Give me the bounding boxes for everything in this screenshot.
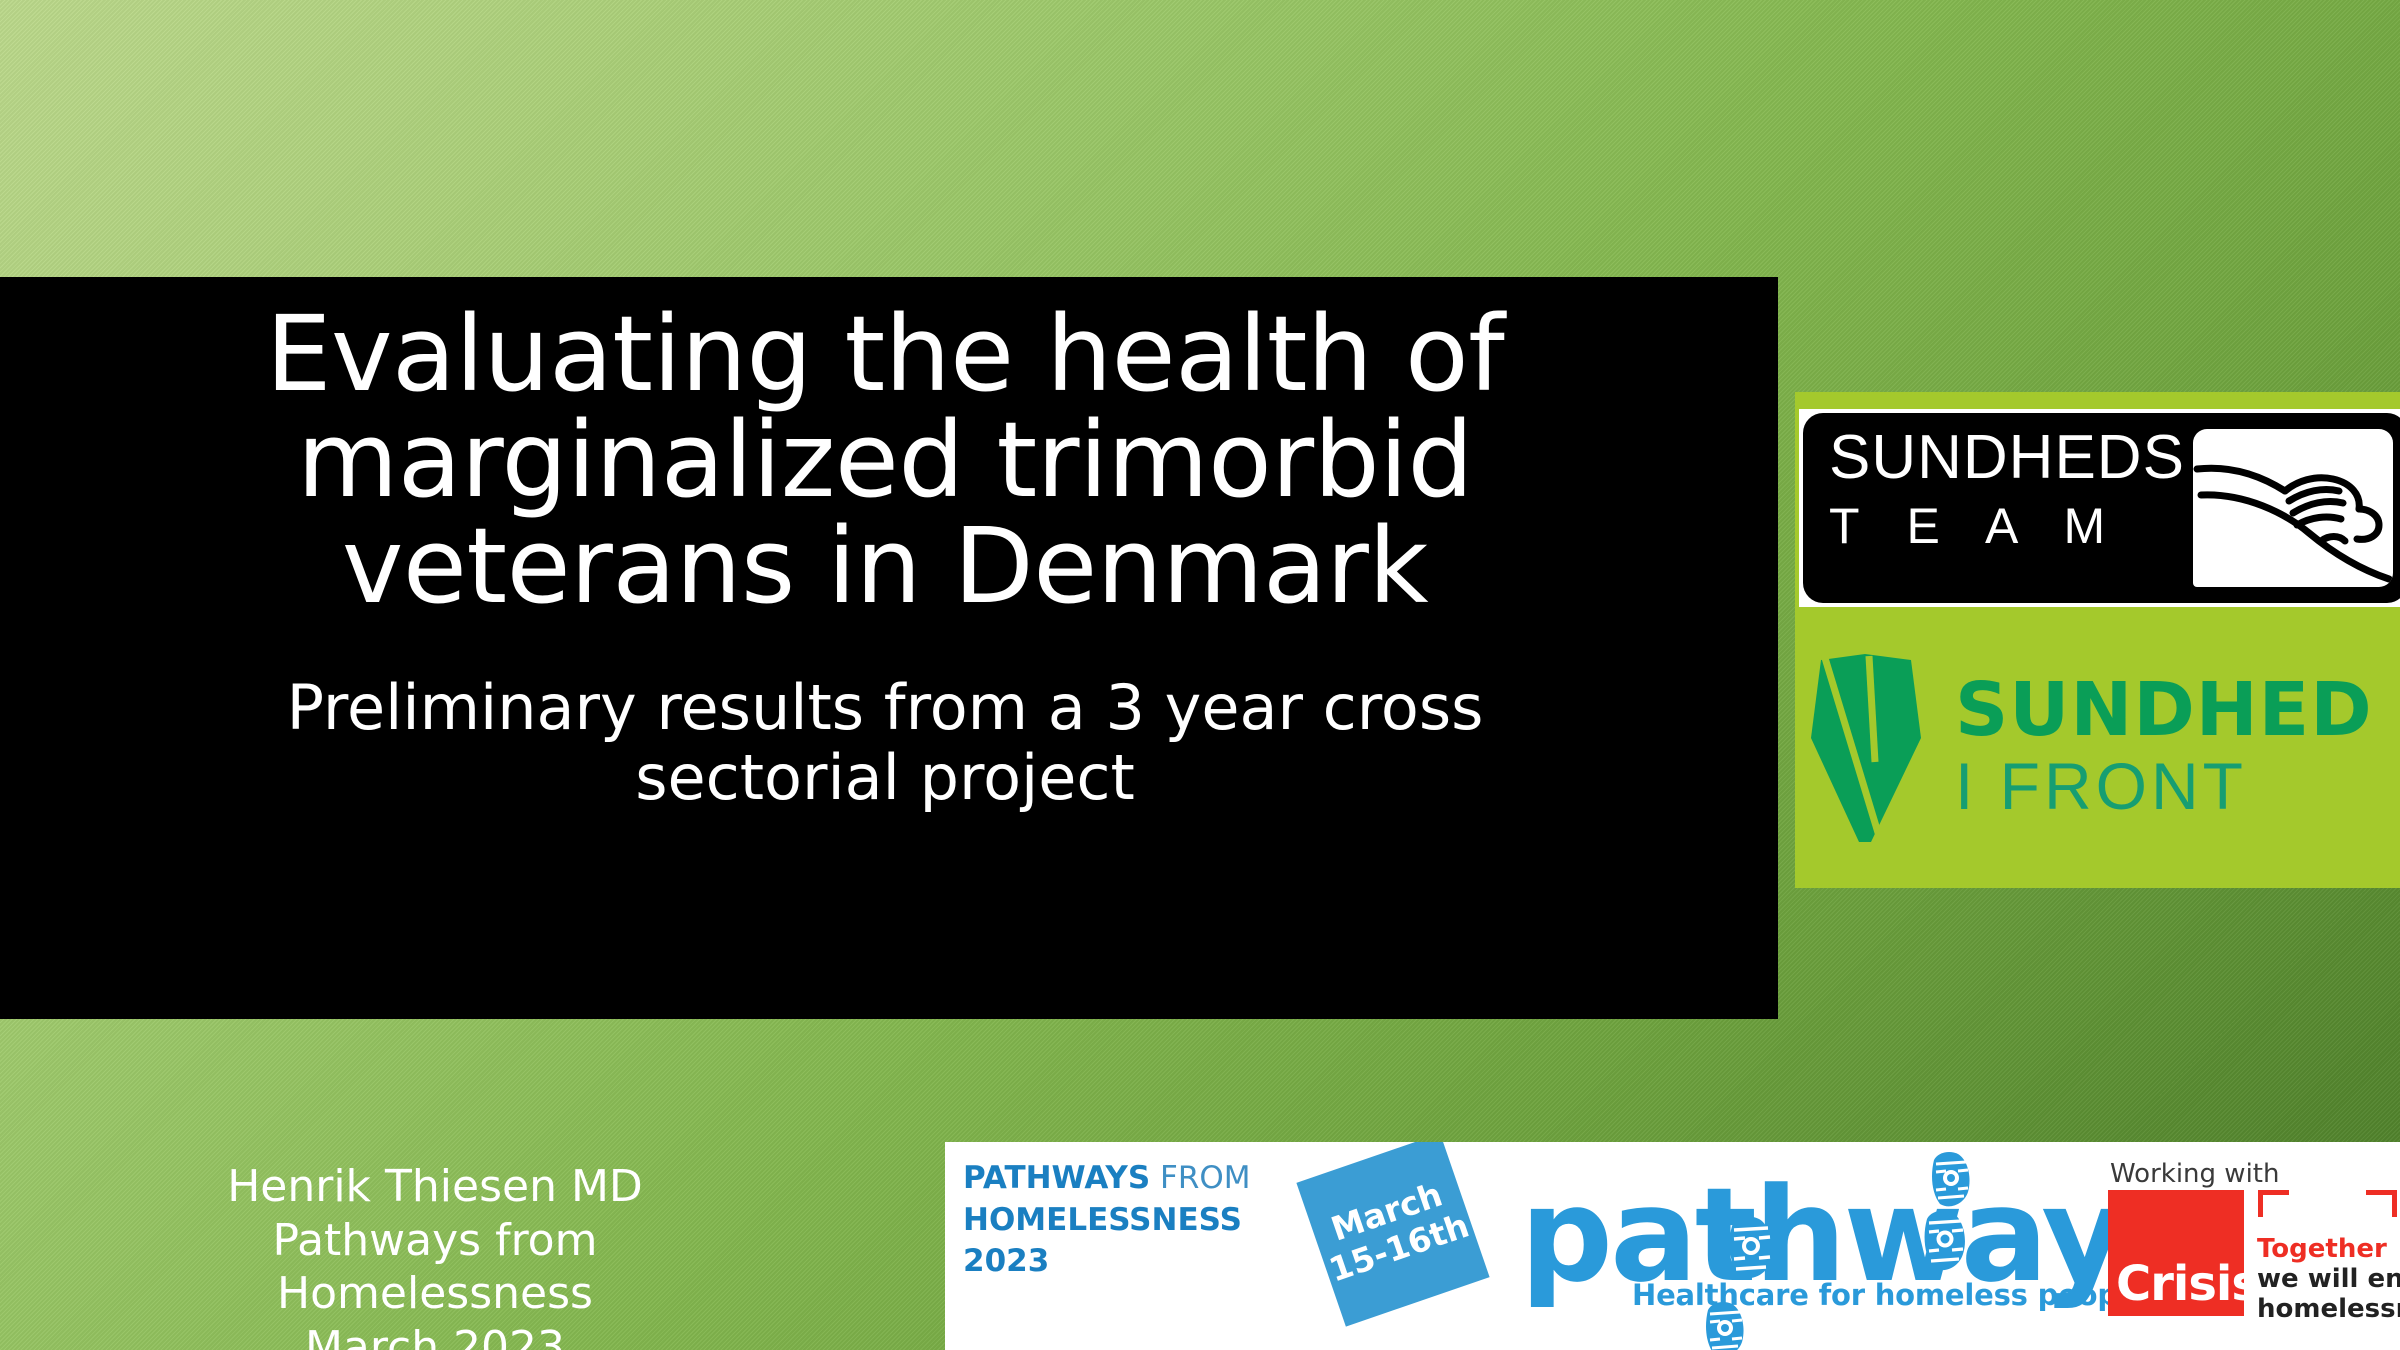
crisis-bracket-right-icon [2366,1190,2397,1217]
conference-title: PATHWAYS FROM HOMELESSNESS 2023 [963,1158,1251,1283]
conference-date-badge: March 15-16th [1296,1142,1489,1327]
conference-title-line1: PATHWAYS FROM [963,1158,1251,1200]
pathway-logo: pathway Healthcare for homeless people [1520,1152,2040,1342]
boot-footprint-icon [1725,1214,1777,1280]
shield-leaf-mark-icon [1805,650,1927,846]
sundheds-team-line2: T E A M [1829,501,2159,551]
conference-title-light: FROM [1150,1160,1250,1196]
boot-footprint-icon [1928,1150,1974,1208]
crisis-tagline-line3: homelessness [2257,1294,2400,1324]
boot-footprint-icon [1702,1300,1748,1350]
boot-footprint-icon [1920,1208,1970,1272]
clasping-hands-icon [2193,429,2393,587]
conference-title-line2: HOMELESSNESS [963,1200,1251,1242]
sundhed-i-front-line2: I FRONT [1955,752,2373,821]
page-title: Evaluating the health of marginalized tr… [105,301,1665,619]
sundhed-i-front-wordmark: SUNDHED I FRONT [1955,675,2373,821]
slide-subtitle: Preliminary results from a 3 year cross … [175,673,1595,812]
crisis-logo: Working with Crisis Together we will end… [2092,1142,2400,1350]
sundheds-team-line1: SUNDHEDS [1829,427,2159,489]
conference-banner: PATHWAYS FROM HOMELESSNESS 2023 March 15… [945,1142,2400,1350]
crisis-tagline-line2: we will end [2257,1264,2400,1294]
sundhed-i-front-logo: SUNDHED I FRONT [1801,628,2400,868]
sundheds-team-logo-body: SUNDHEDS T E A M [1803,413,2400,603]
crisis-tagline-line1: Together [2257,1234,2400,1264]
partner-logo-panel: SUNDHEDS T E A M [1795,392,2400,888]
sundheds-team-wordmark: SUNDHEDS T E A M [1829,427,2159,551]
conference-title-line3: 2023 [963,1241,1251,1283]
crisis-working-with-label: Working with [2110,1159,2279,1189]
author-block: Henrik Thiesen MD Pathways from Homeless… [110,1160,760,1350]
crisis-bracket-left-icon [2258,1190,2289,1217]
crisis-tagline: Together we will end homelessness [2257,1234,2400,1324]
title-panel: Evaluating the health of marginalized tr… [0,277,1778,1019]
crisis-red-box: Crisis [2108,1190,2244,1316]
sundhed-i-front-line1: SUNDHED [1955,675,2373,746]
conference-title-strong: PATHWAYS [963,1160,1150,1196]
sundheds-team-logo: SUNDHEDS T E A M [1799,409,2400,607]
crisis-wordmark: Crisis [2116,1260,2259,1308]
presentation-slide: Evaluating the health of marginalized tr… [0,0,2400,1350]
